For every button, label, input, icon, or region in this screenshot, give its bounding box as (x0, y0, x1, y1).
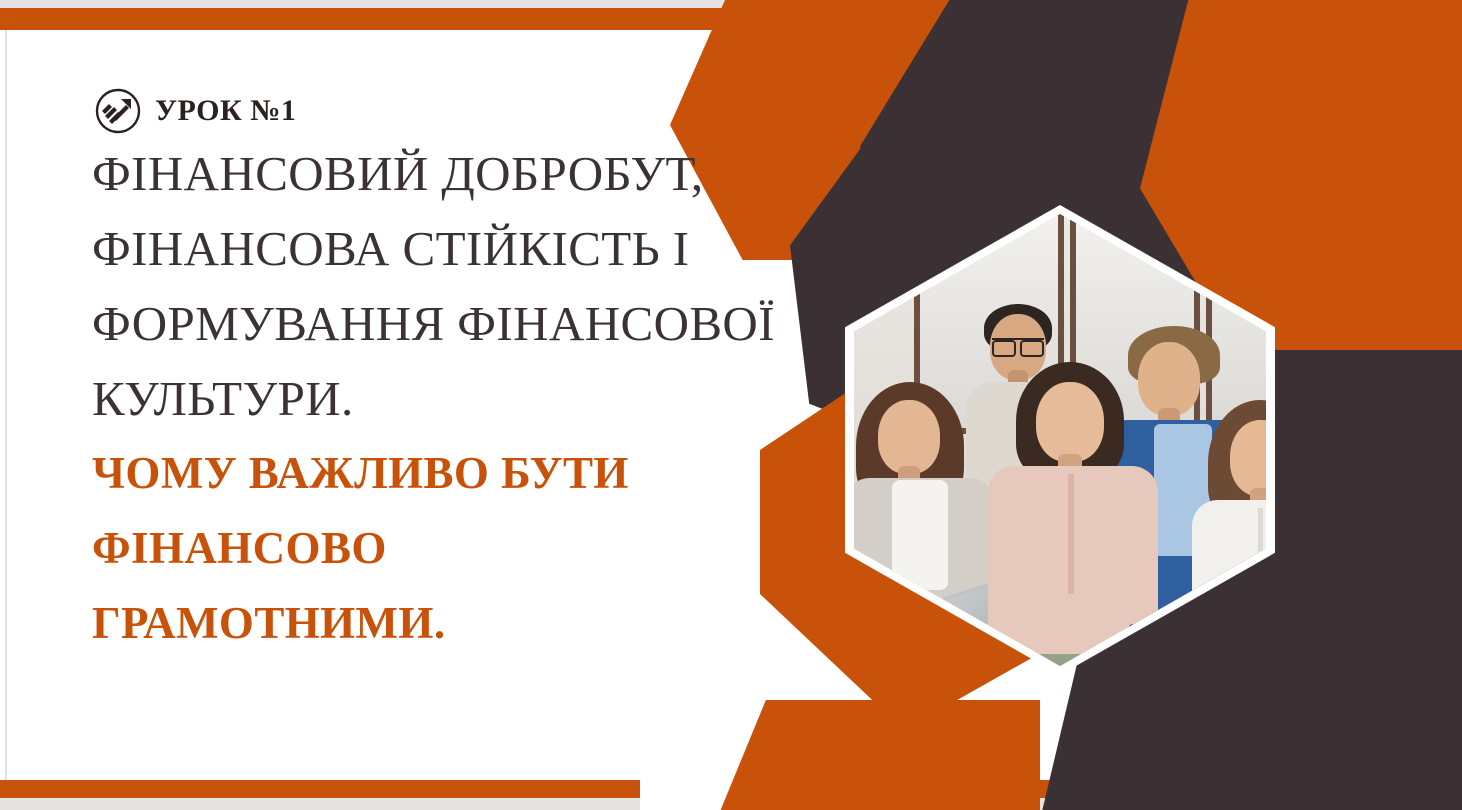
paper-sheet (1184, 623, 1266, 666)
presentation-slide: УРОК №1 ФІНАНСОВИЙ ДОБРОБУТ, ФІНАНСОВА С… (0, 0, 1462, 810)
title-line-4: КУЛЬТУРИ. (92, 361, 872, 436)
subtitle-line-3: ГРАМОТНИМИ. (92, 586, 872, 661)
glasses-icon (992, 338, 1044, 351)
photo-image (854, 214, 1266, 666)
subtitle-line-1: ЧОМУ ВАЖЛИВО БУТИ (92, 436, 872, 511)
team-photo (845, 205, 1275, 675)
title-block: ФІНАНСОВИЙ ДОБРОБУТ, ФІНАНСОВА СТІЙКІСТЬ… (92, 136, 872, 661)
person-woman-center (988, 362, 1158, 666)
rising-arrow-logo-icon (95, 88, 141, 134)
left-edge-rule (5, 8, 7, 788)
lesson-badge: УРОК №1 (95, 88, 296, 134)
subtitle-line-2: ФІНАНСОВО (92, 511, 872, 586)
title-line-1: ФІНАНСОВИЙ ДОБРОБУТ, (92, 136, 872, 211)
person-woman-right (1192, 400, 1266, 666)
title-line-3: ФОРМУВАННЯ ФІНАНСОВОЇ (92, 286, 872, 361)
title-line-2: ФІНАНСОВА СТІЙКІСТЬ І (92, 211, 872, 286)
lesson-label: УРОК №1 (155, 94, 296, 128)
